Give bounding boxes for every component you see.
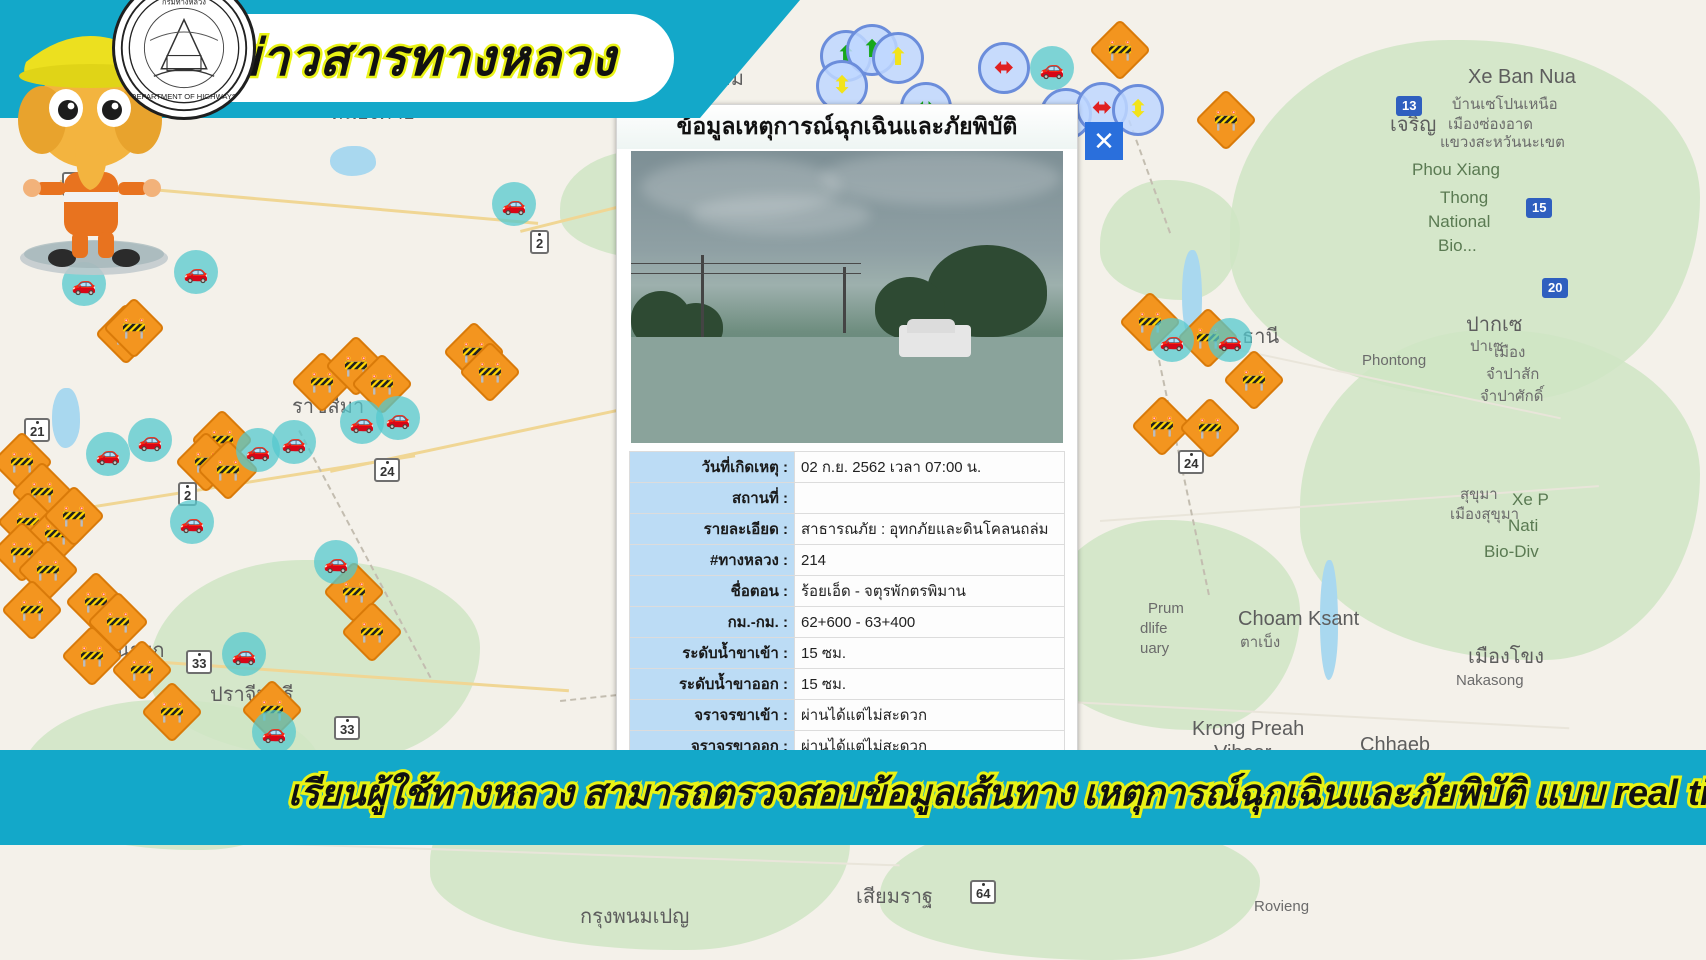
map-place-label: กรุงพนมเปญ — [580, 900, 689, 932]
route-number: 13 — [1402, 98, 1416, 113]
route-number: 24 — [1184, 456, 1198, 471]
lake — [52, 388, 80, 448]
map-place-label: Thong — [1440, 188, 1488, 208]
map-place-label: Bio... — [1438, 236, 1477, 256]
traffic-flow-marker[interactable]: ⬌ — [978, 42, 1030, 94]
page-title: ข่าวสารทางหลวง — [226, 19, 616, 98]
construction-marker[interactable]: 🚧 — [150, 690, 194, 734]
route-shield[interactable]: 24 — [1178, 450, 1204, 474]
detail-value: 15 ซม. — [795, 638, 1065, 669]
map-place-label: เสียมราฐ — [856, 880, 933, 912]
detail-label: กม.-กม. : — [630, 607, 795, 638]
route-shield[interactable]: 20 — [1542, 278, 1568, 298]
map-place-label: Phou Xiang — [1412, 160, 1500, 180]
route-number: 33 — [192, 656, 206, 671]
lake — [330, 146, 376, 176]
map-place-label: Rovieng — [1254, 898, 1309, 915]
table-row: ระดับน้ำขาเข้า :15 ซม. — [630, 638, 1065, 669]
construction-marker[interactable]: 🚧 — [468, 350, 512, 394]
route-number: 21 — [30, 424, 44, 439]
detail-label: #ทางหลวง : — [630, 545, 795, 576]
incident-marker[interactable]: 🚗 — [376, 396, 420, 440]
detail-value: ร้อยเอ็ด - จตุรพักตรพิมาน — [795, 576, 1065, 607]
bottom-banner: เรียนผู้ใช้ทางหลวง สามารถตรวจสอบข้อมูลเส… — [0, 750, 1706, 845]
route-shield[interactable]: 24 — [374, 458, 400, 482]
park-area — [1100, 180, 1240, 300]
map-place-label: Xe P — [1512, 490, 1549, 510]
incident-marker[interactable]: 🚗 — [1150, 318, 1194, 362]
detail-label: ระดับน้ำขาออก : — [630, 669, 795, 700]
construction-marker[interactable]: 🚧 — [1232, 358, 1276, 402]
route-number: 33 — [340, 722, 354, 737]
map-place-label: Prum — [1148, 600, 1184, 617]
incident-marker[interactable]: 🚗 — [222, 632, 266, 676]
map-place-label: Bio-Div — [1484, 542, 1539, 562]
route-shield[interactable]: 33 — [186, 650, 212, 674]
incident-marker[interactable]: 🚗 — [492, 182, 536, 226]
map-place-label: เมือง — [1494, 340, 1525, 364]
incident-marker[interactable]: 🚗 — [128, 418, 172, 462]
table-row: จราจรขาเข้า :ผ่านได้แต่ไม่สะดวก — [630, 700, 1065, 731]
incident-marker[interactable]: 🚗 — [1208, 318, 1252, 362]
route-number: 15 — [1532, 200, 1546, 215]
banner-message: เรียนผู้ใช้ทางหลวง สามารถตรวจสอบข้อมูลเส… — [288, 764, 1706, 821]
table-row: #ทางหลวง :214 — [630, 545, 1065, 576]
construction-marker[interactable]: 🚧 — [1098, 28, 1142, 72]
construction-marker[interactable]: 🚧 — [52, 494, 96, 538]
table-row: ระดับน้ำขาออก :15 ซม. — [630, 669, 1065, 700]
construction-marker[interactable]: 🚧 — [10, 588, 54, 632]
detail-label: จราจรขาเข้า : — [630, 700, 795, 731]
close-icon[interactable]: ✕ — [1085, 122, 1123, 160]
incident-popup[interactable]: ข้อมูลเหตุการณ์ฉุกเฉินและภัยพิบัติ วันที… — [616, 104, 1078, 766]
map-place-label: Phontong — [1362, 352, 1426, 369]
incident-marker[interactable]: 🚗 — [1030, 46, 1074, 90]
table-row: วันที่เกิดเหตุ :02 ก.ย. 2562 เวลา 07:00 … — [630, 452, 1065, 483]
detail-value: 02 ก.ย. 2562 เวลา 07:00 น. — [795, 452, 1065, 483]
route-number: 24 — [380, 464, 394, 479]
construction-marker[interactable]: 🚧 — [70, 634, 114, 678]
map-place-label: จำปาศักดิ์ — [1480, 384, 1544, 408]
route-shield[interactable]: 13 — [1396, 96, 1422, 116]
incident-marker[interactable]: 🚗 — [272, 420, 316, 464]
incident-marker[interactable]: 🚗 — [170, 500, 214, 544]
construction-marker[interactable]: 🚧 — [120, 648, 164, 692]
detail-label: วันที่เกิดเหตุ : — [630, 452, 795, 483]
map-place-label: เมืองโขง — [1468, 640, 1544, 672]
map-place-label: Choam Ksant — [1238, 608, 1359, 631]
map-place-label: แขวงสะหวันนะเขต — [1440, 130, 1565, 154]
svg-text:DEPARTMENT OF HIGHWAYS: DEPARTMENT OF HIGHWAYS — [131, 92, 237, 101]
map-place-label: dlife — [1140, 620, 1168, 637]
route-number: 64 — [976, 886, 990, 901]
map-place-label: จำปาสัก — [1486, 362, 1539, 386]
detail-value: 15 ซม. — [795, 669, 1065, 700]
detail-value: ผ่านได้แต่ไม่สะดวก — [795, 700, 1065, 731]
incident-marker[interactable]: 🚗 — [252, 710, 296, 754]
map-place-label: Krong Preah — [1192, 718, 1304, 741]
map-place-label: Nakasong — [1456, 672, 1524, 689]
incident-marker[interactable]: 🚗 — [314, 540, 358, 584]
detail-label: รายละเอียด : — [630, 514, 795, 545]
map-place-label: uary — [1140, 640, 1169, 657]
traffic-flow-marker[interactable]: ⬆ — [872, 32, 924, 84]
construction-marker[interactable]: 🚧 — [1204, 98, 1248, 142]
table-row: ชื่อตอน :ร้อยเอ็ด - จตุรพักตรพิมาน — [630, 576, 1065, 607]
detail-label: ระดับน้ำขาเข้า : — [630, 638, 795, 669]
map-place-label: Nati — [1508, 516, 1538, 536]
detail-label: ชื่อตอน : — [630, 576, 795, 607]
construction-marker[interactable]: 🚧 — [1140, 404, 1184, 448]
map-place-label: Xe Ban Nua — [1468, 66, 1576, 89]
incident-photo — [631, 151, 1063, 443]
detail-label: สถานที่ : — [630, 483, 795, 514]
table-row: สถานที่ : — [630, 483, 1065, 514]
map-place-label: ตาเบ็ง — [1240, 630, 1280, 654]
incident-detail-table: วันที่เกิดเหตุ :02 ก.ย. 2562 เวลา 07:00 … — [629, 451, 1065, 793]
map-place-label: National — [1428, 212, 1490, 232]
detail-value — [795, 483, 1065, 514]
construction-marker[interactable]: 🚧 — [350, 610, 394, 654]
route-number: 2 — [536, 236, 543, 251]
detail-value: 214 — [795, 545, 1065, 576]
route-shield[interactable]: 64 — [970, 880, 996, 904]
construction-marker[interactable]: 🚧 — [1188, 406, 1232, 450]
route-shield[interactable]: 15 — [1526, 198, 1552, 218]
route-shield[interactable]: 2 — [530, 230, 549, 254]
construction-marker[interactable]: 🚧 — [112, 306, 156, 350]
route-number: 20 — [1548, 280, 1562, 295]
table-row: รายละเอียด :สาธารณภัย : อุทกภัยและดินโคล… — [630, 514, 1065, 545]
svg-text:กรมทางหลวง: กรมทางหลวง — [162, 0, 206, 7]
detail-value: สาธารณภัย : อุทกภัยและดินโคลนถล่ม — [795, 514, 1065, 545]
route-shield[interactable]: 33 — [334, 716, 360, 740]
popup-title: ข้อมูลเหตุการณ์ฉุกเฉินและภัยพิบัติ — [677, 109, 1018, 145]
detail-value: 62+600 - 63+400 — [795, 607, 1065, 638]
table-row: กม.-กม. :62+600 - 63+400 — [630, 607, 1065, 638]
incident-marker[interactable]: 🚗 — [86, 432, 130, 476]
